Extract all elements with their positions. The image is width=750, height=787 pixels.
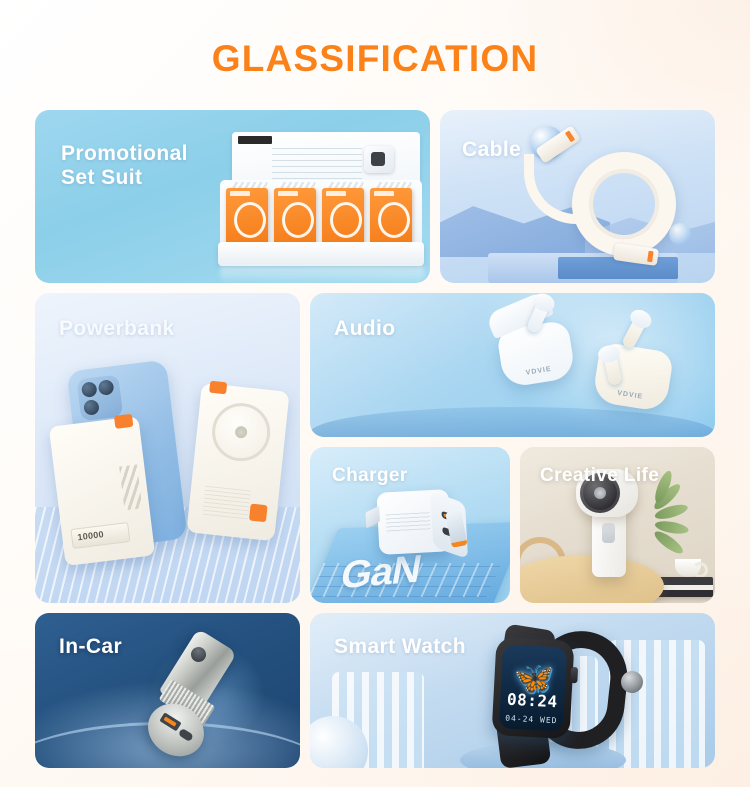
gan-text: GaN: [337, 548, 424, 599]
watch-date: 04-24 WED: [499, 713, 563, 725]
powerbank-back-view: [186, 383, 289, 541]
cable-lead: [524, 154, 584, 224]
card-label-powerbank: Powerbank: [59, 317, 175, 341]
powerbank-front-view: 10000: [49, 416, 155, 566]
power-button: [249, 504, 268, 523]
usb-a-port: [159, 712, 181, 731]
category-grid-page: GLASSIFICATION Promotional Set Suit: [0, 0, 750, 787]
plug-prongs: [365, 506, 379, 529]
vent-stripes: [119, 465, 142, 511]
category-card-cable[interactable]: Cable: [440, 110, 715, 283]
coffee-cup: [675, 559, 701, 577]
capacity-value: 10000: [77, 529, 105, 542]
spec-text-lines: [272, 148, 362, 182]
magsafe-ring: [209, 400, 273, 464]
usb-c-port: [178, 728, 194, 742]
category-card-powerbank[interactable]: Powerbank 10000: [35, 293, 300, 603]
strap-buckle: [621, 671, 643, 693]
page-title-wrap: GLASSIFICATION: [0, 0, 750, 80]
gan-charger-body: [376, 489, 451, 555]
category-card-promotional-set-suit[interactable]: Promotional Set Suit: [35, 110, 430, 283]
promotional-display-illustration: [180, 124, 430, 283]
camera-module: [76, 374, 123, 421]
card-label-cable: Cable: [462, 138, 521, 162]
orange-package: [370, 188, 412, 250]
watch-time: 08:24: [500, 689, 565, 711]
card-label-in-car: In-Car: [59, 635, 122, 659]
category-card-grid: Promotional Set Suit: [35, 110, 715, 768]
watch-screen: 🦋 08:24 04-24 WED: [499, 644, 567, 731]
card-label-creative-life: Creative Life: [540, 465, 659, 487]
category-card-in-car[interactable]: In-Car: [35, 613, 300, 768]
device-switch: [602, 523, 615, 543]
card-label-smart-watch: Smart Watch: [334, 635, 466, 659]
page-title: GLASSIFICATION: [0, 38, 750, 80]
reflection-shadow: [220, 266, 424, 283]
camera-lens: [83, 399, 100, 416]
card-label-charger: Charger: [332, 465, 408, 487]
card-label-audio: Audio: [334, 317, 395, 341]
brand-logo-mark: VDVIE: [617, 390, 644, 401]
product-tray: [220, 180, 422, 248]
card-label-promotional-set-suit: Promotional Set Suit: [61, 142, 188, 191]
orange-package: [322, 188, 364, 250]
camera-lens: [98, 379, 115, 396]
category-card-charger[interactable]: Charger GaN: [310, 447, 510, 603]
decorative-sphere-small: [669, 223, 691, 245]
orange-package: [226, 188, 268, 250]
capacity-badge: 10000: [70, 522, 130, 549]
watch-crown-button: [570, 667, 578, 683]
brand-logo-mark: VDVIE: [525, 366, 552, 377]
orange-package: [274, 188, 316, 250]
camera-lens: [81, 381, 98, 398]
category-card-creative-life[interactable]: Creative Life: [520, 447, 715, 603]
display-base: [218, 242, 424, 266]
watch-case: 🦋 08:24 04-24 WED: [491, 637, 574, 739]
brand-logo-mark: [238, 136, 272, 144]
wall-plug-icon: [364, 146, 394, 173]
category-card-smart-watch[interactable]: Smart Watch 🦋 08:24 04-24 WED: [310, 613, 715, 768]
charger-spec-label: [386, 512, 431, 532]
category-card-audio[interactable]: Audio VDVIE VDVIE: [310, 293, 715, 437]
grill-texture: [202, 486, 251, 521]
